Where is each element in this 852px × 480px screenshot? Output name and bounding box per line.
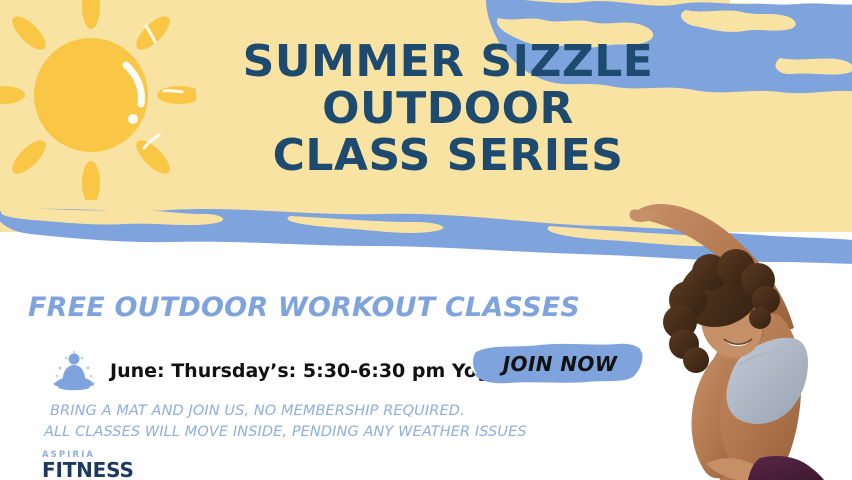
fineprint: BRING A MAT AND JOIN US, NO MEMBERSHIP R…: [44, 401, 527, 443]
schedule-text: June: Thursday’s: 5:30-6:30 pm Yoga: [110, 360, 503, 382]
schedule-row: June: Thursday’s: 5:30-6:30 pm Yoga: [52, 350, 503, 392]
headline-line-2: OUTDOOR: [168, 85, 728, 132]
fineprint-line-2: ALL CLASSES WILL MOVE INSIDE, PENDING AN…: [44, 422, 527, 443]
sun-icon: [0, 0, 196, 200]
join-now-label: JOIN NOW: [468, 336, 648, 392]
logo-brand-main: FITNESS: [42, 460, 134, 480]
headline-line-1: SUMMER SIZZLE: [168, 38, 728, 85]
aspiria-fitness-logo: ASPIRIA FITNESS: [42, 450, 134, 480]
page-title: SUMMER SIZZLE OUTDOOR CLASS SERIES: [168, 38, 728, 179]
join-now-button[interactable]: JOIN NOW: [468, 336, 648, 392]
woman-stretching-photo: [628, 196, 852, 480]
fineprint-line-1: BRING A MAT AND JOIN US, NO MEMBERSHIP R…: [44, 401, 527, 422]
poster-canvas: SUMMER SIZZLE OUTDOOR CLASS SERIES: [0, 0, 852, 480]
headline-line-3: CLASS SERIES: [168, 132, 728, 179]
subtitle: FREE OUTDOOR WORKOUT CLASSES: [28, 292, 580, 323]
yoga-meditation-icon: [52, 350, 96, 392]
